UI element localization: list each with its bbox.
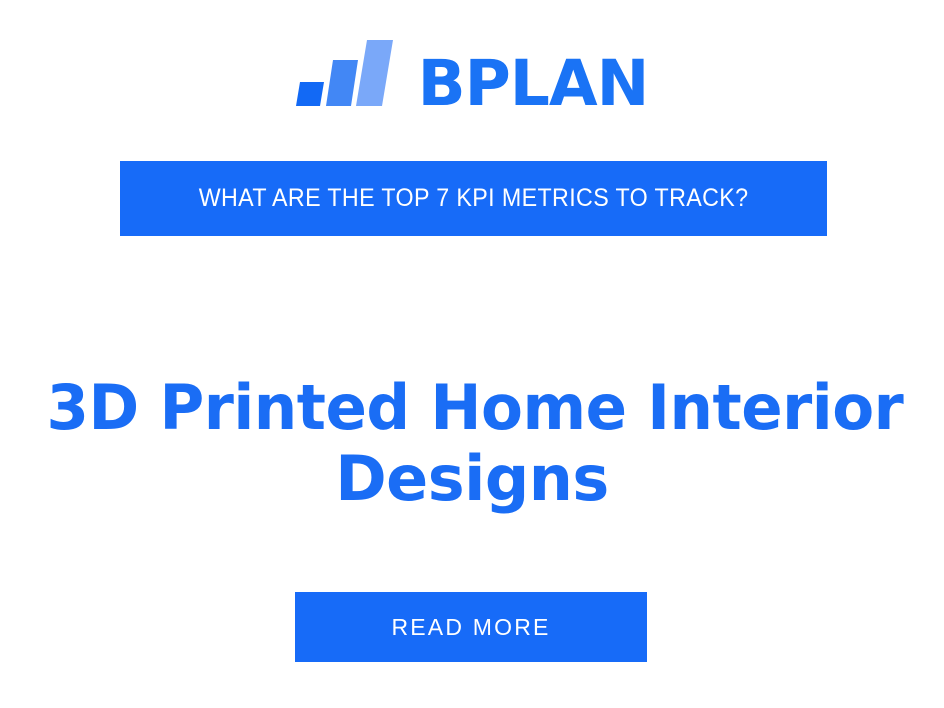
read-more-label: READ MORE <box>391 614 550 641</box>
read-more-button[interactable]: READ MORE <box>295 592 647 662</box>
page-title-line-2: Designs <box>40 443 904 514</box>
page-title: 3D Printed Home Interior Designs <box>40 372 904 515</box>
marketing-card: BPLAN WHAT ARE THE TOP 7 KPI METRICS TO … <box>0 0 944 708</box>
brand-wordmark: BPLAN <box>418 55 649 113</box>
kpi-question-banner: WHAT ARE THE TOP 7 KPI METRICS TO TRACK? <box>120 161 827 236</box>
page-title-line-1: 3D Printed Home Interior <box>46 372 897 443</box>
kpi-question-text: WHAT ARE THE TOP 7 KPI METRICS TO TRACK? <box>199 184 749 213</box>
ascending-bar-chart-icon <box>296 38 394 110</box>
brand-logo[interactable]: BPLAN <box>0 34 944 110</box>
